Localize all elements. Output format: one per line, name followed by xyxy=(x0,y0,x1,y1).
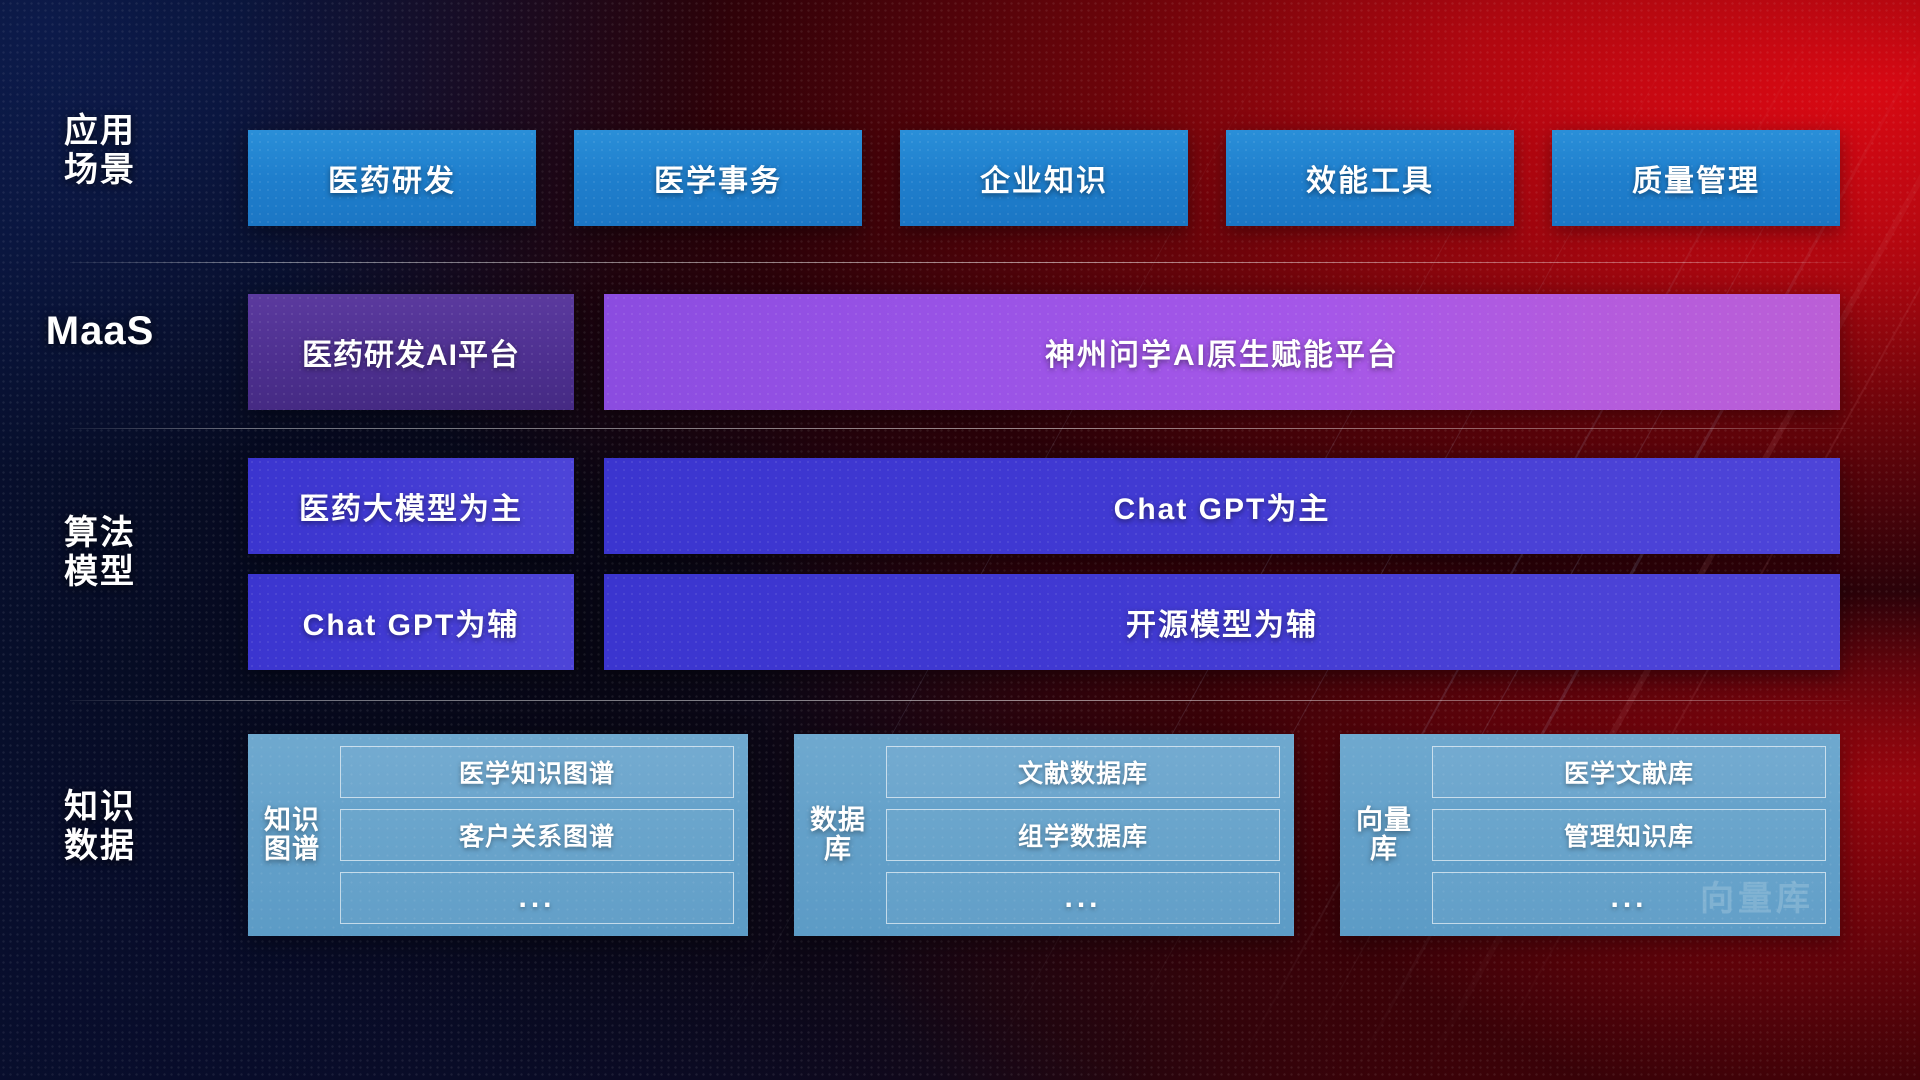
app-box-medical-affairs[interactable]: 医学事务 xyxy=(574,130,862,226)
app-box-label: 质量管理 xyxy=(1632,156,1760,200)
row-algorithm-model: 算法 模型 医药大模型为主 Chat GPT为主 Chat GPT为辅 开源模型… xyxy=(0,428,1920,700)
app-box-label: 医药研发 xyxy=(328,156,456,200)
app-box-enterprise-knowledge[interactable]: 企业知识 xyxy=(900,130,1188,226)
row-maas: MaaS 医药研发AI平台 神州问学AI原生赋能平台 xyxy=(0,262,1920,428)
knowledge-item[interactable]: 医学文献库 xyxy=(1432,746,1826,798)
knowledge-item[interactable]: 客户关系图谱 xyxy=(340,809,734,861)
row-label-line: 数据 xyxy=(0,827,200,866)
algo-box-chatgpt-primary[interactable]: Chat GPT为主 xyxy=(604,458,1840,554)
maas-box-label: 神州问学AI原生赋能平台 xyxy=(1045,330,1399,374)
maas-box-label: 医药研发AI平台 xyxy=(302,330,520,374)
app-box-medicine-rd[interactable]: 医药研发 xyxy=(248,130,536,226)
knowledge-panel-title: 向量库 xyxy=(1352,744,1416,926)
row-label-line: 应用 xyxy=(0,112,200,151)
algo-box-label: Chat GPT为主 xyxy=(1114,484,1331,528)
app-box-label: 效能工具 xyxy=(1306,156,1434,200)
row-label-line: 模型 xyxy=(0,553,200,592)
knowledge-item-more[interactable]: ... xyxy=(886,872,1280,924)
algo-box-label: 医药大模型为主 xyxy=(299,484,523,528)
row-application-scenarios: 应用 场景 医药研发 医学事务 企业知识 效能工具 质量管理 xyxy=(0,0,1920,260)
knowledge-item[interactable]: 组学数据库 xyxy=(886,809,1280,861)
row-label-application-scenarios: 应用 场景 xyxy=(0,112,200,191)
maas-box-shenzhou-wenxue-platform[interactable]: 神州问学AI原生赋能平台 xyxy=(604,294,1840,410)
algo-box-opensource-secondary[interactable]: 开源模型为辅 xyxy=(604,574,1840,670)
app-box-label: 企业知识 xyxy=(980,156,1108,200)
knowledge-item[interactable]: 文献数据库 xyxy=(886,746,1280,798)
algo-box-label: Chat GPT为辅 xyxy=(303,600,520,644)
knowledge-item[interactable]: 管理知识库 xyxy=(1432,809,1826,861)
row-label-knowledge-data: 知识 数据 xyxy=(0,788,200,867)
row-label-line: 场景 xyxy=(0,151,200,190)
knowledge-panel-vector-store[interactable]: 向量库 向量库 医学文献库 管理知识库 ... xyxy=(1340,734,1840,936)
knowledge-panel-database[interactable]: 数据库 文献数据库 组学数据库 ... xyxy=(794,734,1294,936)
algo-box-label: 开源模型为辅 xyxy=(1126,600,1318,644)
algo-box-chatgpt-secondary[interactable]: Chat GPT为辅 xyxy=(248,574,574,670)
app-box-quality-management[interactable]: 质量管理 xyxy=(1552,130,1840,226)
diagram-canvas: 应用 场景 医药研发 医学事务 企业知识 效能工具 质量管理 MaaS xyxy=(0,0,1920,1080)
algo-box-medicine-llm-primary[interactable]: 医药大模型为主 xyxy=(248,458,574,554)
app-box-efficiency-tools[interactable]: 效能工具 xyxy=(1226,130,1514,226)
row-label-maas: MaaS xyxy=(0,308,200,354)
knowledge-item-more[interactable]: ... xyxy=(1432,872,1826,924)
row-label-line: MaaS xyxy=(0,308,200,354)
knowledge-panel-title: 数据库 xyxy=(806,744,870,926)
knowledge-item[interactable]: 医学知识图谱 xyxy=(340,746,734,798)
row-label-algorithm-model: 算法 模型 xyxy=(0,514,200,593)
knowledge-panel-knowledge-graph[interactable]: 知识图谱 医学知识图谱 客户关系图谱 ... xyxy=(248,734,748,936)
maas-box-medicine-rd-ai-platform[interactable]: 医药研发AI平台 xyxy=(248,294,574,410)
app-box-label: 医学事务 xyxy=(654,156,782,200)
knowledge-panel-title: 知识图谱 xyxy=(260,744,324,926)
row-label-line: 知识 xyxy=(0,788,200,827)
knowledge-item-more[interactable]: ... xyxy=(340,872,734,924)
row-label-line: 算法 xyxy=(0,514,200,553)
row-knowledge-data: 知识 数据 知识图谱 医学知识图谱 客户关系图谱 ... 数据库 文献数据库 xyxy=(0,700,1920,1080)
